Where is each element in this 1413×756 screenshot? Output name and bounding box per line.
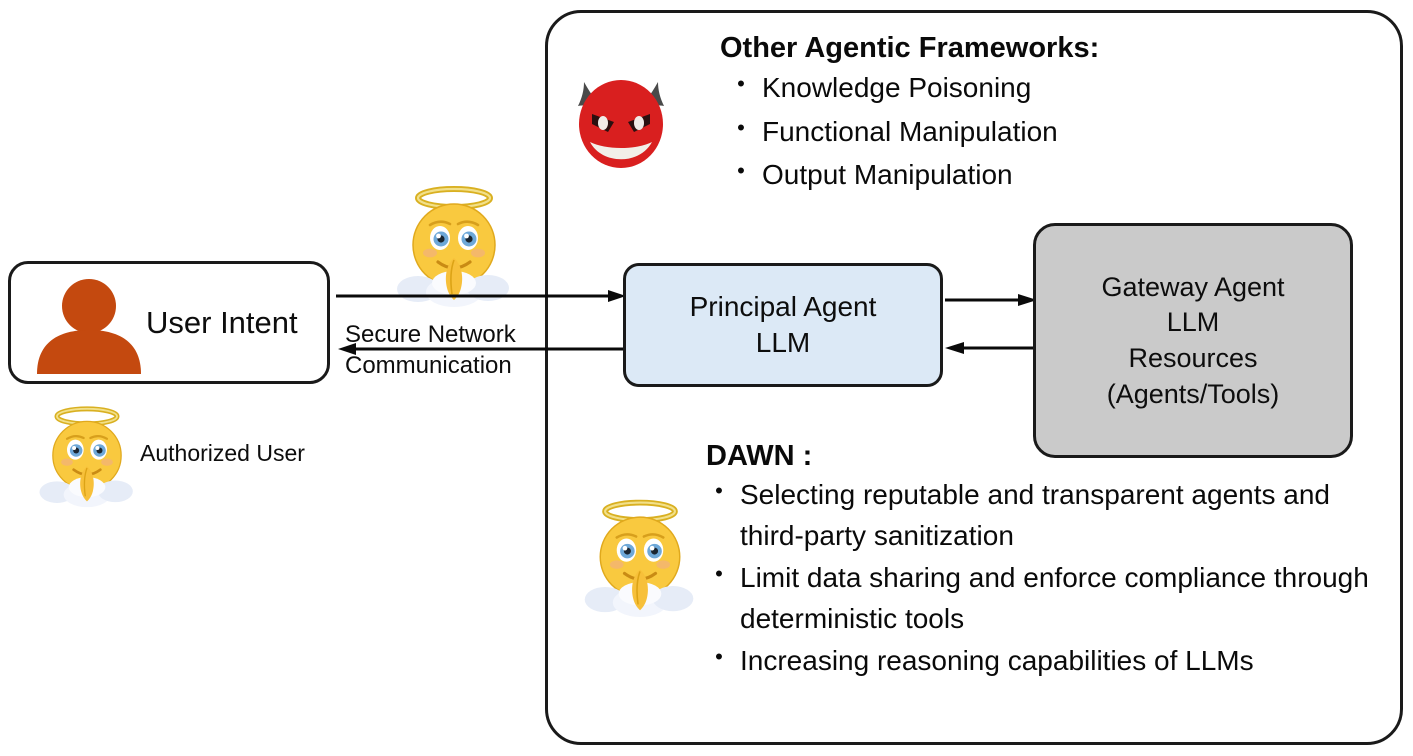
authorized-user-caption: Authorized User <box>140 440 305 467</box>
gateway-agent-line-2: LLM <box>1167 305 1220 340</box>
dawn-angel-praying-emoji <box>576 478 704 630</box>
threats-bullet-item: • Functional Manipulation <box>720 112 1380 153</box>
authorized-user-angel-emoji <box>32 398 142 508</box>
bullet-dot-icon: • <box>712 475 726 507</box>
gateway-agent-box[interactable]: Gateway Agent LLM Resources (Agents/Tool… <box>1033 223 1353 458</box>
gateway-agent-line-4: (Agents/Tools) <box>1107 377 1280 412</box>
user-intent-box[interactable]: User Intent <box>8 261 330 384</box>
arrow-principal-agent-to-user <box>338 339 628 359</box>
bullet-dot-icon: • <box>734 112 748 144</box>
threats-item-label: Knowledge Poisoning <box>762 68 1031 109</box>
dawn-bullet-item: • Limit data sharing and enforce complia… <box>706 558 1396 639</box>
devil-face-emoji <box>562 62 680 174</box>
dawn-heading: DAWN : <box>706 440 1396 473</box>
dawn-item-label: Selecting reputable and transparent agen… <box>740 475 1396 556</box>
arrow-gateway-agent-to-principal-agent <box>945 338 1037 358</box>
user-intent-label: User Intent <box>146 305 298 341</box>
dawn-bullet-item: • Increasing reasoning capabilities of L… <box>706 641 1396 682</box>
bullet-dot-icon: • <box>712 641 726 673</box>
threats-item-label: Functional Manipulation <box>762 112 1058 153</box>
gateway-agent-line-1: Gateway Agent <box>1101 270 1284 305</box>
bullet-dot-icon: • <box>712 558 726 590</box>
principal-agent-line-2: LLM <box>756 326 810 360</box>
arrow-principal-agent-to-gateway-agent <box>945 290 1037 310</box>
threats-item-label: Output Manipulation <box>762 155 1013 196</box>
principal-agent-box[interactable]: Principal Agent LLM <box>623 263 943 387</box>
dawn-bullet-list: • Selecting reputable and transparent ag… <box>706 475 1396 682</box>
gateway-agent-line-3: Resources <box>1128 341 1257 376</box>
threats-bullet-list: • Knowledge Poisoning • Functional Manip… <box>720 68 1380 196</box>
principal-agent-line-1: Principal Agent <box>690 290 877 324</box>
bullet-dot-icon: • <box>734 155 748 187</box>
dawn-text-block: DAWN : • Selecting reputable and transpa… <box>706 440 1396 682</box>
threats-bullet-item: • Knowledge Poisoning <box>720 68 1380 109</box>
dawn-item-label: Increasing reasoning capabilities of LLM… <box>740 641 1254 682</box>
diagram-canvas: User Intent <box>0 0 1413 756</box>
bullet-dot-icon: • <box>734 68 748 100</box>
arrow-user-to-principal-agent <box>336 286 628 306</box>
dawn-bullet-item: • Selecting reputable and transparent ag… <box>706 475 1396 556</box>
person-icon <box>29 278 149 374</box>
threats-text-block: Other Agentic Frameworks: • Knowledge Po… <box>720 32 1380 196</box>
threats-heading: Other Agentic Frameworks: <box>720 32 1380 65</box>
threats-bullet-item: • Output Manipulation <box>720 155 1380 196</box>
dawn-item-label: Limit data sharing and enforce complianc… <box>740 558 1396 639</box>
